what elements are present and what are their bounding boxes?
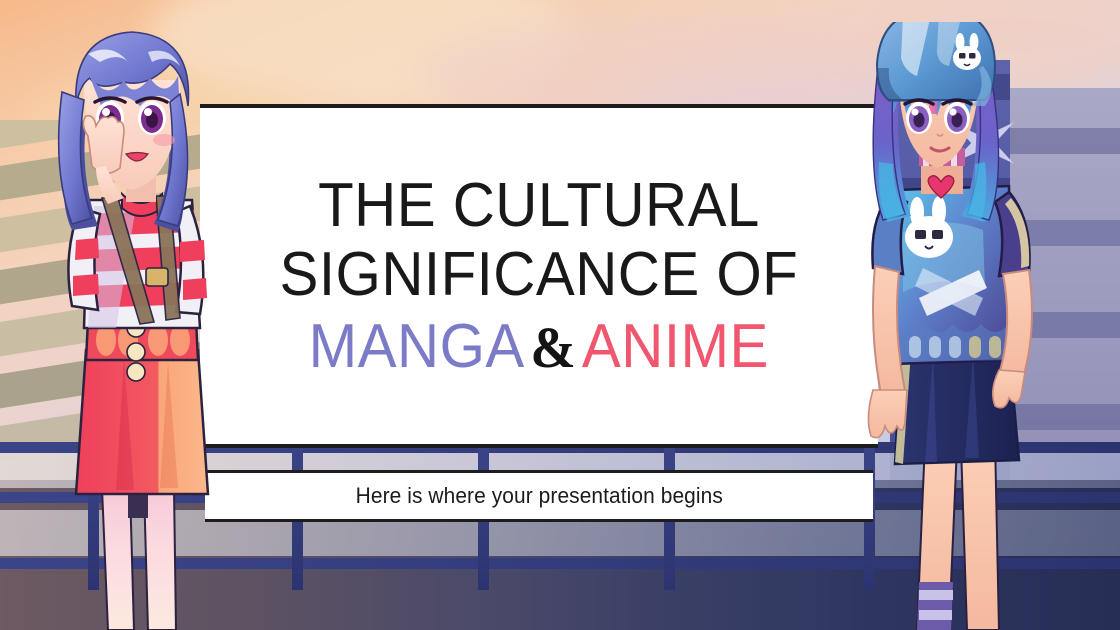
subtitle-bar: Here is where your presentation begins: [205, 470, 873, 522]
title-card: THE CULTURAL SIGNIFICANCE OF MANGA&ANIME: [200, 104, 878, 448]
title-line-2: SIGNIFICANCE OF: [280, 243, 799, 306]
title-line-3: MANGA&ANIME: [309, 315, 769, 378]
subtitle-text: Here is where your presentation begins: [355, 483, 722, 509]
right-character-illustration: [833, 22, 1068, 630]
presentation-slide: THE CULTURAL SIGNIFICANCE OF MANGA&ANIME…: [0, 0, 1120, 630]
left-character-illustration: [28, 18, 258, 630]
title-line-1: THE CULTURAL: [318, 174, 760, 237]
ampersand: &: [525, 315, 582, 380]
keyword-manga: MANGA: [309, 312, 525, 381]
keyword-anime: ANIME: [582, 312, 769, 381]
